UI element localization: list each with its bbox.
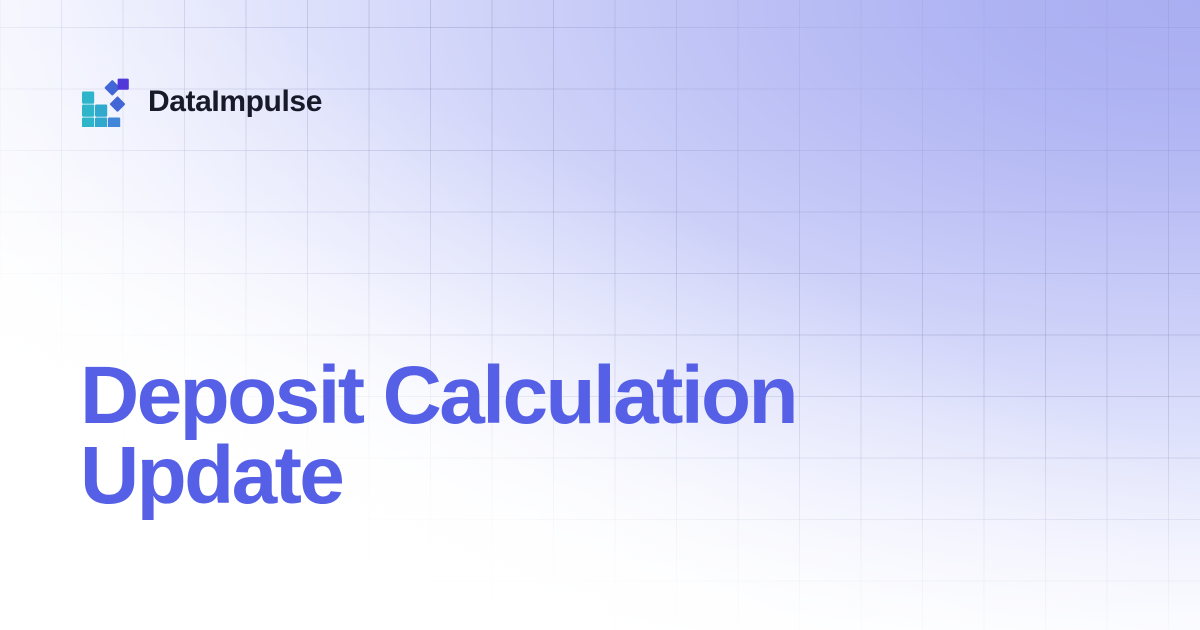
square-mid-left: [82, 105, 94, 117]
brand-name: DataImpulse: [148, 87, 322, 117]
banner-content: DataImpulse Deposit Calculation Update: [0, 0, 1200, 630]
square-accent-purple: [118, 79, 129, 90]
brand-lockup: DataImpulse: [80, 77, 322, 127]
og-banner-card: DataImpulse Deposit Calculation Update: [0, 0, 1200, 630]
square-bottom-left: [82, 118, 94, 128]
square-mid-center: [95, 105, 107, 117]
square-bottom-right: [108, 118, 120, 128]
diamond-lower: [109, 96, 125, 112]
page-title: Deposit Calculation Update: [80, 356, 1040, 517]
square-top-left: [82, 92, 94, 104]
dataimpulse-logo-icon: [80, 77, 130, 127]
square-bottom-center: [95, 118, 107, 128]
